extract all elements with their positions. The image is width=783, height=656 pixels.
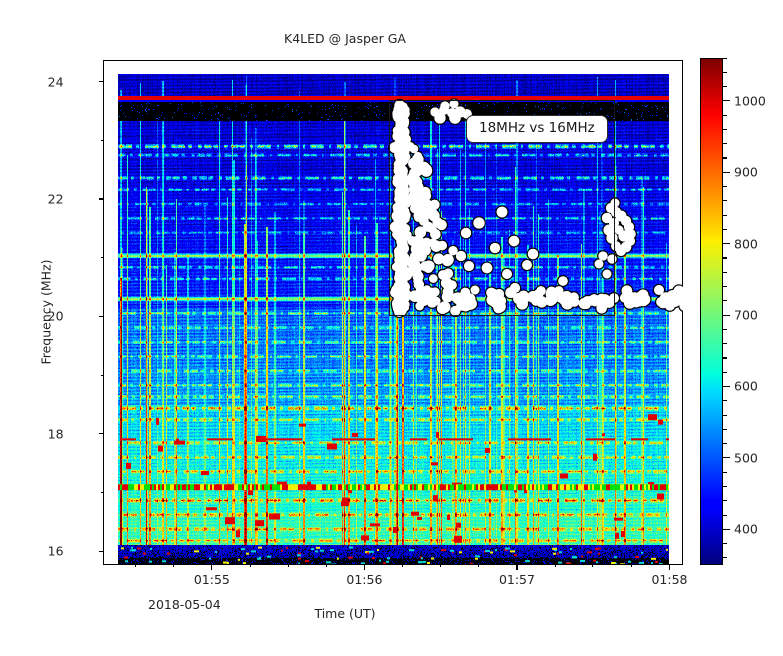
- x-tick-label: 01:56: [346, 572, 382, 587]
- colorbar-tick-label: 1000: [734, 93, 766, 108]
- x-tick-label: 01:57: [499, 572, 535, 587]
- x-minor-tick: [173, 564, 174, 567]
- colorbar-major-tick: [723, 457, 730, 458]
- x-minor-tick: [402, 564, 403, 567]
- x-minor-tick: [250, 564, 251, 567]
- y-minor-tick: [101, 492, 104, 493]
- x-minor-tick: [326, 564, 327, 567]
- colorbar-major-tick: [723, 172, 730, 173]
- colorbar-minor-tick: [723, 415, 727, 416]
- y-major-tick: [99, 81, 105, 82]
- colorbar-minor-tick: [723, 515, 727, 516]
- colorbar-minor-tick: [723, 543, 727, 544]
- colorbar-tick-label: 900: [734, 165, 758, 180]
- colorbar-major-tick: [723, 529, 730, 530]
- colorbar-minor-tick: [723, 557, 727, 558]
- colorbar-minor-tick: [723, 229, 727, 230]
- y-tick-label: 24: [48, 74, 64, 89]
- spectrogram-pixels: [118, 74, 669, 564]
- y-major-tick: [99, 433, 105, 434]
- colorbar-minor-tick: [723, 343, 727, 344]
- y-minor-tick: [101, 140, 104, 141]
- colorbar-tick-label: 600: [734, 379, 758, 394]
- x-minor-tick: [555, 564, 556, 567]
- x-major-tick: [516, 564, 517, 570]
- colorbar-minor-tick: [723, 357, 727, 358]
- x-minor-tick: [135, 564, 136, 567]
- y-minor-tick: [101, 257, 104, 258]
- colorbar-minor-tick: [723, 186, 727, 187]
- y-major-tick: [99, 198, 105, 199]
- x-major-tick: [364, 564, 365, 570]
- colorbar-minor-tick: [723, 200, 727, 201]
- colorbar-major-tick: [723, 315, 730, 316]
- colorbar-minor-tick: [723, 257, 727, 258]
- colorbar-minor-tick: [723, 272, 727, 273]
- colorbar-minor-tick: [723, 286, 727, 287]
- colorbar-tick-label: 700: [734, 308, 758, 323]
- colorbar-minor-tick: [723, 429, 727, 430]
- colorbar-minor-tick: [723, 486, 727, 487]
- colorbar-minor-tick: [723, 129, 727, 130]
- colorbar-minor-tick: [723, 300, 727, 301]
- colorbar: [700, 58, 723, 565]
- x-minor-tick: [631, 564, 632, 567]
- figure-canvas: K4LED @ Jasper GA Frequency (MHz) Time (…: [0, 0, 783, 656]
- y-minor-tick: [101, 375, 104, 376]
- colorbar-minor-tick: [723, 115, 727, 116]
- figure-title: K4LED @ Jasper GA: [0, 31, 690, 46]
- colorbar-tick-label: 800: [734, 236, 758, 251]
- x-major-tick: [211, 564, 212, 570]
- colorbar-minor-tick: [723, 500, 727, 501]
- y-tick-label: 22: [48, 191, 64, 206]
- x-tick-label: 01:58: [651, 572, 687, 587]
- colorbar-minor-tick: [723, 443, 727, 444]
- colorbar-minor-tick: [723, 472, 727, 473]
- spectrogram-image: [118, 74, 669, 564]
- colorbar-tick-label: 500: [734, 450, 758, 465]
- y-tick-label: 20: [48, 309, 64, 324]
- y-tick-label: 18: [48, 426, 64, 441]
- x-minor-tick: [288, 564, 289, 567]
- colorbar-tick-label: 400: [734, 522, 758, 537]
- colorbar-minor-tick: [723, 143, 727, 144]
- y-major-tick: [99, 316, 105, 317]
- x-axis-title: Time (UT): [0, 606, 690, 621]
- colorbar-minor-tick: [723, 157, 727, 158]
- x-minor-tick: [592, 564, 593, 567]
- colorbar-minor-tick: [723, 58, 727, 59]
- colorbar-minor-tick: [723, 215, 727, 216]
- x-tick-label: 01:55: [194, 572, 230, 587]
- colorbar-minor-tick: [723, 400, 727, 401]
- y-major-tick: [99, 551, 105, 552]
- annotation-label: 18MHz vs 16MHz: [466, 115, 608, 143]
- x-minor-tick: [478, 564, 479, 567]
- colorbar-minor-tick: [723, 372, 727, 373]
- colorbar-minor-tick: [723, 329, 727, 330]
- y-tick-label: 16: [48, 544, 64, 559]
- colorbar-major-tick: [723, 100, 730, 101]
- colorbar-gradient: [701, 59, 722, 564]
- x-axis-date-label: 2018-05-04: [148, 597, 221, 612]
- colorbar-major-tick: [723, 243, 730, 244]
- x-minor-tick: [440, 564, 441, 567]
- x-major-tick: [669, 564, 670, 570]
- colorbar-major-tick: [723, 386, 730, 387]
- colorbar-minor-tick: [723, 72, 727, 73]
- colorbar-minor-tick: [723, 86, 727, 87]
